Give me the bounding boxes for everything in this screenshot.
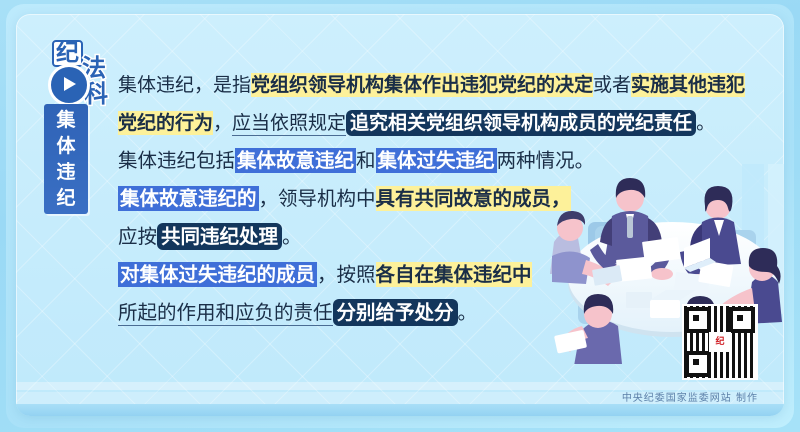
line-7-segment-3: 。 — [458, 301, 478, 324]
definition-body-text: 集体违纪，是指党组织领导机构集体作出违犯党纪的决定或者实施其他违犯党纪的行为，应… — [118, 66, 758, 332]
line-5-segment-2: 共同违纪处理 — [157, 223, 282, 250]
qr-center-logo: 纪 — [709, 332, 731, 352]
line-5-segment-3: 。 — [282, 225, 302, 248]
line-1-segment-1: 集体违纪，是指 — [118, 74, 251, 96]
line-2-segment-5: 。 — [696, 112, 715, 134]
line-7-segment-1: 所起的作用和应负的责任 — [118, 301, 333, 326]
line-4-segment-3: 具有共同故意的成员， — [376, 186, 571, 211]
banner-char-2: 体 — [56, 133, 75, 159]
line-4: 集体故意违纪的，领导机构中具有共同故意的成员， — [118, 180, 758, 218]
line-1-segment-3: 或者 — [593, 74, 631, 96]
line-1: 集体违纪，是指党组织领导机构集体作出违犯党纪的决定或者实施其他违犯 — [118, 66, 758, 104]
line-3-segment-3: 和 — [356, 149, 376, 172]
line-4-segment-2: ，领导机构中 — [259, 187, 376, 210]
logo-char-ji: 纪 — [52, 40, 83, 67]
banner-char-3: 违 — [56, 159, 75, 185]
line-6-segment-3: 各自在集体违纪中 — [376, 262, 532, 287]
line-2-segment-3: 应当依照规定 — [232, 112, 346, 136]
line-5: 应按共同违纪处理。 — [118, 218, 758, 256]
line-7: 所起的作用和应负的责任分别给予处分。 — [118, 294, 758, 332]
line-2-segment-4: 追究相关党组织领导机构成员的党纪责任 — [346, 110, 696, 136]
play-icon — [48, 64, 90, 106]
qr-eye-bottom-left — [685, 351, 711, 377]
line-2-segment-1: 党纪的行为 — [118, 111, 213, 135]
credit-text: 中央纪委国家监委网站 制作 — [622, 389, 758, 404]
line-6-segment-1: 对集体过失违纪的成员 — [118, 262, 317, 287]
line-7-segment-2: 分别给予处分 — [333, 299, 458, 326]
line-3-segment-2: 集体故意违纪 — [235, 148, 356, 173]
banner-char-4: 纪 — [56, 185, 75, 211]
line-3-segment-1: 集体违纪包括 — [118, 149, 235, 172]
line-2-segment-2: ， — [213, 112, 232, 134]
line-4-segment-1: 集体故意违纪的 — [118, 186, 259, 211]
line-3-segment-5: 两种情况。 — [497, 149, 595, 172]
line-6: 对集体过失违纪的成员，按照各自在集体违纪中 — [118, 256, 758, 294]
banner-char-1: 集 — [56, 107, 75, 133]
line-3-segment-4: 集体过失违纪 — [376, 148, 497, 173]
brand-logo: 纪 法 科 — [34, 38, 120, 108]
line-1-segment-2: 党组织领导机构集体作出违犯党纪的决定 — [251, 73, 593, 97]
line-2: 党纪的行为，应当依照规定追究相关党组织领导机构成员的党纪责任。 — [118, 104, 758, 142]
line-5-segment-1: 应按 — [118, 225, 157, 248]
line-3: 集体违纪包括集体故意违纪和集体过失违纪两种情况。 — [118, 142, 758, 180]
vertical-title-banner: 集 体 违 纪 — [44, 104, 88, 214]
infographic-poster: 纪 中央纪委国家监委网站 制作 纪 法 科 集 体 违 纪 集体违纪，是指党组织… — [0, 0, 800, 432]
line-6-segment-2: ，按照 — [317, 263, 376, 286]
floor-band-lower — [16, 404, 784, 416]
line-1-segment-4: 实施其他违犯 — [631, 73, 745, 97]
